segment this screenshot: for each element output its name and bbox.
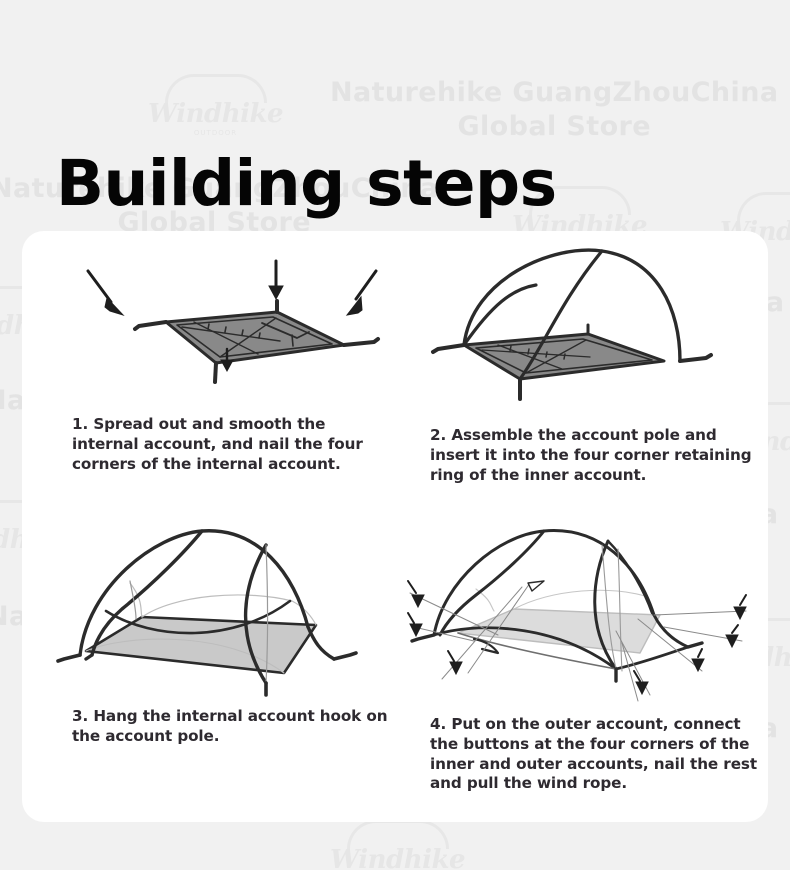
watermark-brand-name: Windhike xyxy=(330,845,465,870)
watermark-brand-sub: OUTDOOR xyxy=(148,129,283,137)
step-caption-4: 4. Put on the outer account, connect the… xyxy=(430,715,758,794)
steps-card: 1. Spread out and smooth the internal ac… xyxy=(22,231,768,822)
tent-footprint-staked-icon xyxy=(44,249,392,409)
tent-poles-assembled-icon xyxy=(402,239,758,414)
step-caption-1: 1. Spread out and smooth the internal ac… xyxy=(72,415,392,474)
watermark-arc-icon xyxy=(165,74,267,103)
step-caption-3: 3. Hang the internal account hook on the… xyxy=(72,707,392,747)
watermark-arc-icon xyxy=(737,192,790,221)
watermark-brand-logo: Windhike xyxy=(330,820,465,870)
tent-footprint-staked-figure xyxy=(44,249,392,409)
outer-fly-staked-icon xyxy=(402,523,758,713)
step-item-1: 1. Spread out and smooth the internal ac… xyxy=(44,249,392,489)
watermark-store-text: Naturehike GuangZhouChina Global Store xyxy=(330,76,778,144)
watermark-store-line1: Naturehike GuangZhouChina xyxy=(330,76,778,110)
step-item-4: 4. Put on the outer account, connect the… xyxy=(402,523,758,809)
inner-tent-hung-icon xyxy=(44,523,392,703)
watermark-store-line2: Global Store xyxy=(330,110,778,144)
outer-fly-staked-figure xyxy=(402,523,758,713)
watermark-arc-icon xyxy=(347,820,449,849)
watermark-brand-name: Windhike xyxy=(148,99,283,129)
step-item-2: 2. Assemble the account pole and insert … xyxy=(402,239,758,500)
step-item-3: 3. Hang the internal account hook on the… xyxy=(44,523,392,762)
inner-tent-hung-figure xyxy=(44,523,392,703)
tent-poles-assembled-figure xyxy=(402,239,758,414)
watermark-brand-logo: Windhike OUTDOOR xyxy=(148,74,283,137)
step-caption-2: 2. Assemble the account pole and insert … xyxy=(430,426,758,485)
page-title: Building steps xyxy=(56,152,557,215)
